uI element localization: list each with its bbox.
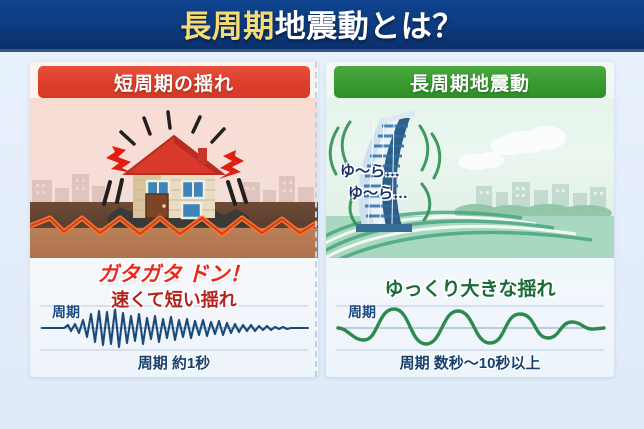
panel-short-period: 短周期の揺れ	[30, 62, 318, 377]
sway-text-1: ゆ〜ら…	[340, 160, 400, 181]
right-illustration-scene: ゆ〜ら… ゆ〜ら…	[326, 98, 614, 258]
sway-text-2: ゆ〜ら…	[348, 182, 408, 203]
shaking-house-icon	[30, 98, 318, 258]
left-wave-caption: 周期 約1秒	[30, 352, 318, 373]
page-title-rest: 地震動とは？	[275, 9, 464, 44]
right-shout-primary: ゆっくり大きな揺れ	[326, 274, 614, 301]
page-header: 長周期地震動とは？	[0, 0, 644, 52]
left-illustration-scene	[30, 98, 318, 258]
long-period-wave-area: 周期	[326, 300, 614, 356]
left-panel-banner: 短周期の揺れ	[38, 66, 310, 98]
panel-long-period: 長周期地震動	[326, 62, 614, 377]
left-shout-secondary: 速くて短い揺れ	[30, 286, 318, 312]
panel-divider	[315, 62, 317, 377]
right-wave-caption: 周期 数秒〜10秒以上	[326, 352, 614, 373]
page-title: 長周期地震動とは？	[180, 11, 464, 42]
right-wave-label: 周期	[348, 302, 376, 322]
page-title-highlight: 長周期	[180, 9, 275, 44]
right-panel-banner: 長周期地震動	[334, 66, 606, 98]
left-shout-primary: ガタガタ ドン！	[30, 258, 318, 288]
